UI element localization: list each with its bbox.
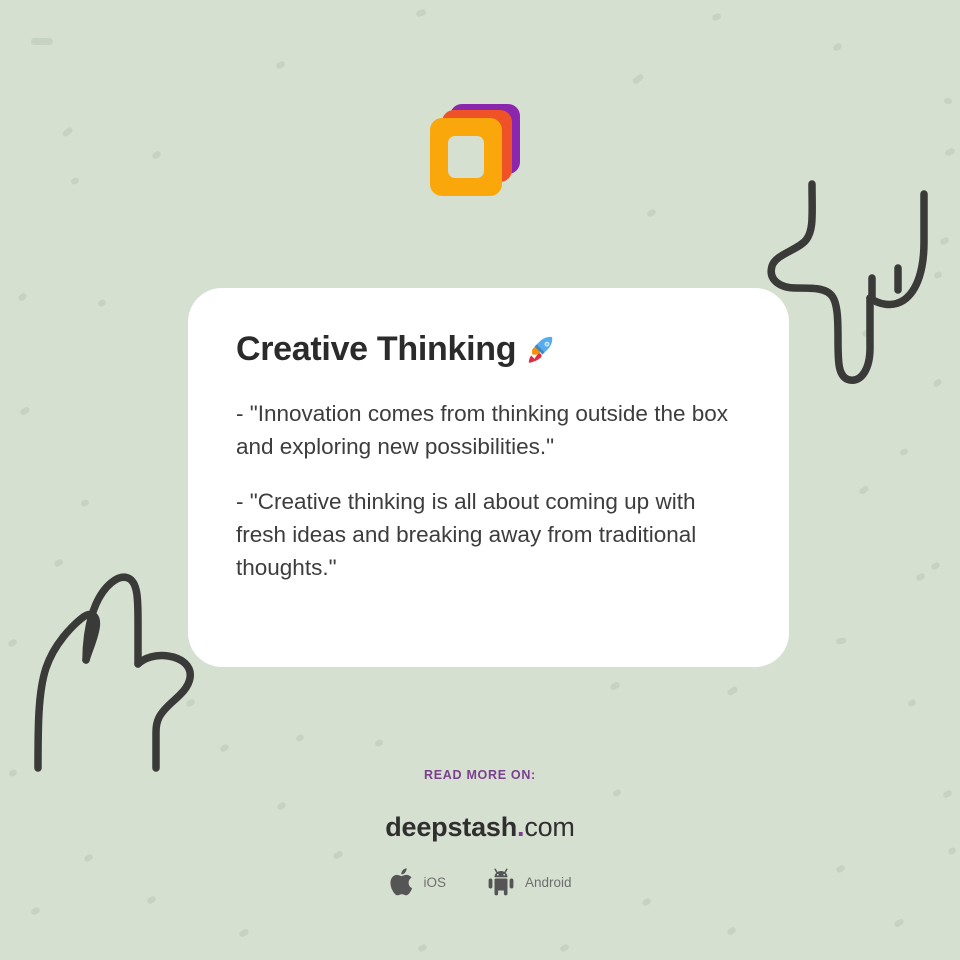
background-speckle: [930, 561, 941, 571]
background-speckle: [932, 378, 943, 388]
background-speckle: [219, 743, 230, 753]
wordmark-name: deepstash: [385, 812, 517, 842]
background-speckle: [609, 681, 621, 691]
background-speckle: [726, 926, 737, 936]
android-store-label: Android: [525, 875, 572, 890]
background-speckle: [861, 328, 872, 338]
quote-paragraph: - "Creative thinking is all about coming…: [236, 485, 743, 584]
background-speckle: [646, 208, 657, 218]
background-speckle: [53, 558, 64, 568]
background-speckle: [711, 12, 722, 21]
wordmark-tld: com: [524, 812, 574, 842]
background-speckle: [275, 60, 286, 70]
logo-inner-cutout: [448, 136, 484, 178]
store-badges: iOS Android: [0, 867, 960, 897]
quote-paragraph: - "Innovation comes from thinking outsid…: [236, 397, 743, 463]
background-speckle: [31, 38, 53, 45]
background-speckle: [939, 236, 950, 246]
background-speckle: [295, 733, 305, 742]
android-store-badge[interactable]: Android: [486, 867, 572, 897]
background-speckle: [7, 638, 18, 648]
background-speckle: [61, 126, 73, 138]
background-speckle: [19, 406, 31, 416]
card-title-text: Creative Thinking: [236, 330, 516, 369]
background-speckle: [97, 298, 107, 307]
ios-store-badge[interactable]: iOS: [388, 867, 446, 897]
deepstash-logo: [430, 104, 520, 200]
background-speckle: [185, 698, 196, 708]
background-speckle: [70, 176, 80, 185]
background-speckle: [858, 485, 870, 496]
android-icon: [486, 867, 516, 897]
background-speckle: [151, 150, 162, 160]
background-speckle: [944, 147, 956, 157]
read-more-label: READ MORE ON:: [0, 768, 960, 782]
background-speckle: [933, 270, 943, 279]
background-speckle: [374, 738, 384, 747]
footer: READ MORE ON: deepstash.com iOS: [0, 768, 960, 897]
background-speckle: [726, 686, 739, 697]
background-speckle: [944, 97, 953, 104]
card-title: Creative Thinking: [236, 330, 743, 369]
brand-wordmark[interactable]: deepstash.com: [0, 812, 960, 843]
rocket-icon: [524, 333, 558, 367]
background-speckle: [631, 73, 644, 85]
background-speckle: [832, 42, 843, 52]
background-speckle: [899, 447, 909, 456]
background-speckle: [238, 928, 250, 938]
quote-card: Creative Thinking - "Innovation comes fr…: [188, 288, 789, 667]
ios-store-label: iOS: [423, 875, 446, 890]
hand-pointing-up-icon: [20, 560, 206, 780]
background-speckle: [559, 943, 570, 953]
background-speckle: [836, 637, 847, 645]
background-speckle: [915, 572, 926, 582]
background-speckle: [417, 943, 428, 952]
background-speckle: [30, 906, 41, 916]
background-speckle: [907, 698, 917, 707]
background-speckle: [641, 897, 652, 907]
background-speckle: [17, 292, 28, 302]
apple-icon: [388, 867, 414, 897]
background-speckle: [415, 8, 426, 17]
background-speckle: [80, 498, 90, 507]
background-speckle: [893, 918, 905, 928]
